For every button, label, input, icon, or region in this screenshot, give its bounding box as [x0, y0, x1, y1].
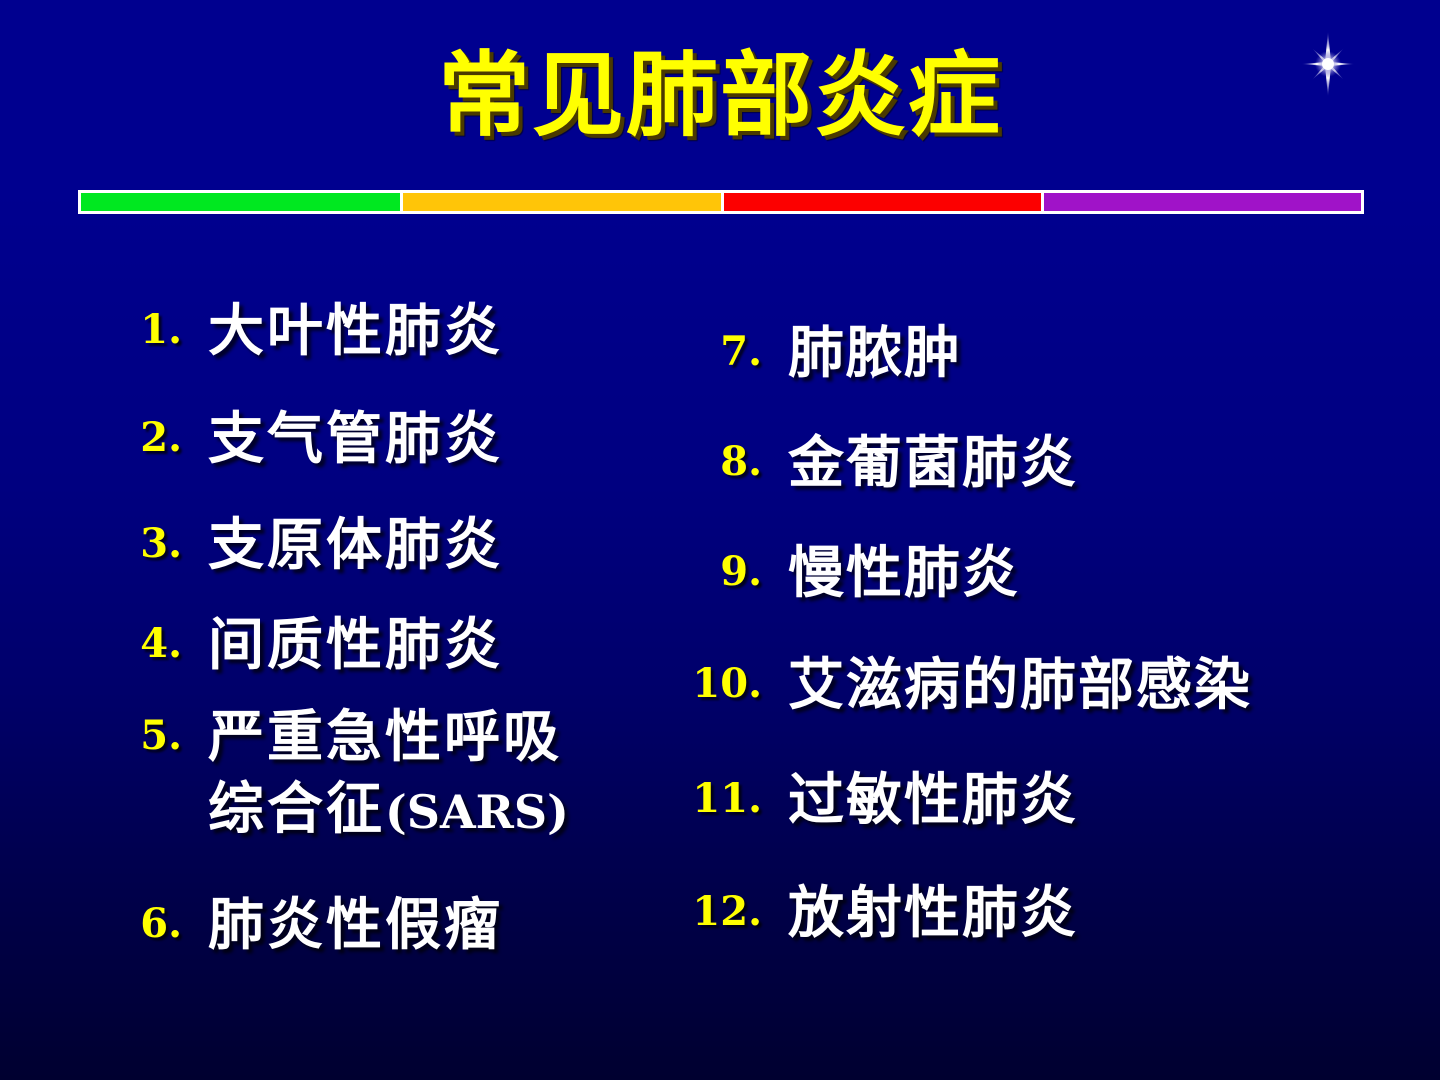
list-item-number: 1.: [104, 310, 182, 350]
list-item-label: 大叶性肺炎: [208, 296, 503, 368]
list-item-label: 支原体肺炎: [208, 510, 503, 582]
list-item-label: 金葡菌肺炎: [788, 428, 1078, 500]
list-item-number: 7.: [666, 332, 762, 372]
list-item: 9. 慢性肺炎: [666, 538, 1020, 610]
list-column-left: 1. 大叶性肺炎 2. 支气管肺炎 3. 支原体肺炎 4. 间质性肺炎 5. 严…: [104, 0, 694, 1080]
list-item: 8. 金葡菌肺炎: [666, 428, 1078, 500]
list-item-label: 间质性肺炎: [208, 610, 503, 682]
list-item: 11. 过敏性肺炎: [666, 765, 1078, 837]
list-item-label: 过敏性肺炎: [788, 765, 1078, 837]
list-item-label: 放射性肺炎: [788, 878, 1078, 950]
list-item: 10. 艾滋病的肺部感染: [666, 650, 1252, 722]
list-item-label: 艾滋病的肺部感染: [788, 650, 1252, 722]
list-item-label: 支气管肺炎: [208, 404, 503, 476]
list-column-right: 7. 肺脓肿 8. 金葡菌肺炎 9. 慢性肺炎 10. 艾滋病的肺部感染 11.…: [666, 0, 1386, 1080]
list-item-label-line2: 综合征: [208, 777, 385, 842]
slide-canvas: 常见肺部炎症 1. 大叶性肺炎 2. 支气管肺炎 3. 支原体肺炎 4. 间质性…: [0, 0, 1440, 1080]
list-item-number: 12.: [666, 892, 762, 932]
list-item-label: 严重急性呼吸综合征(SARS): [208, 702, 569, 845]
list-item: 5. 严重急性呼吸综合征(SARS): [104, 702, 569, 845]
list-item: 1. 大叶性肺炎: [104, 296, 503, 368]
list-item-number: 4.: [104, 624, 182, 664]
list-item-number: 10.: [666, 664, 762, 704]
list-item-label: 肺脓肿: [788, 318, 962, 390]
list-item-number: 11.: [666, 779, 762, 819]
list-item-label: 肺炎性假瘤: [208, 890, 503, 962]
list-item: 3. 支原体肺炎: [104, 510, 503, 582]
list-item: 7. 肺脓肿: [666, 318, 962, 390]
list-item: 6. 肺炎性假瘤: [104, 890, 503, 962]
list-item: 4. 间质性肺炎: [104, 610, 503, 682]
list-item-label-line1: 严重急性呼吸: [208, 705, 562, 770]
list-item: 12. 放射性肺炎: [666, 878, 1078, 950]
list-item-number: 8.: [666, 442, 762, 482]
list-item-number: 3.: [104, 524, 182, 564]
list-item: 2. 支气管肺炎: [104, 404, 503, 476]
list-item-number: 5.: [104, 716, 182, 756]
list-item-number: 6.: [104, 904, 182, 944]
list-item-label: 慢性肺炎: [788, 538, 1020, 610]
list-item-number: 2.: [104, 418, 182, 458]
list-item-number: 9.: [666, 552, 762, 592]
list-item-label-abbrev: (SARS): [385, 785, 569, 839]
